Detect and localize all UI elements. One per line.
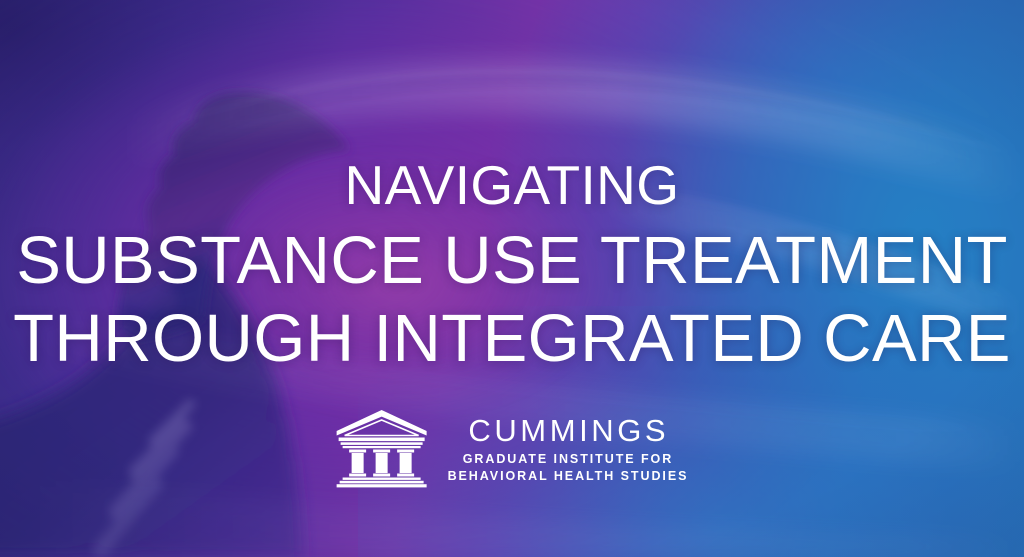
classical-building-icon <box>336 408 428 488</box>
cummings-logo: CUMMINGS GRADUATE INSTITUTE FOR BEHAVIOR… <box>336 408 689 488</box>
headline-line-2: SUBSTANCE USE TREATMENT <box>0 222 1024 300</box>
page-title: NAVIGATING SUBSTANCE USE TREATMENT THROU… <box>0 0 1024 378</box>
logo-tagline-line-1: GRADUATE INSTITUTE FOR <box>446 451 689 468</box>
logo-tagline-line-2: BEHAVIORAL HEALTH STUDIES <box>446 468 689 485</box>
headline-line-1: NAVIGATING <box>0 148 1024 222</box>
promotional-banner: NAVIGATING SUBSTANCE USE TREATMENT THROU… <box>0 0 1024 557</box>
headline-line-3: THROUGH INTEGRATED CARE <box>0 300 1024 378</box>
logo-wordmark: CUMMINGS <box>465 415 669 448</box>
logo-text-block: CUMMINGS GRADUATE INSTITUTE FOR BEHAVIOR… <box>446 411 689 485</box>
logo-tagline: GRADUATE INSTITUTE FOR BEHAVIORAL HEALTH… <box>446 451 689 486</box>
